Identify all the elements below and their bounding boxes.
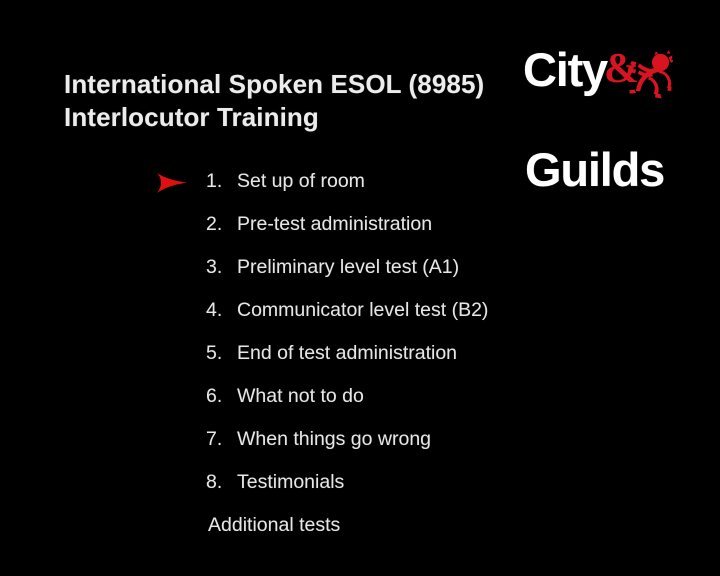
list-item: 4.Communicator level test (B2) <box>206 295 626 338</box>
list-item-label: End of test administration <box>237 338 457 368</box>
list-item-label: When things go wrong <box>237 424 431 454</box>
logo-word-city: City <box>523 46 607 93</box>
list-item-label: Communicator level test (B2) <box>237 295 488 325</box>
list-item: 2.Pre-test administration <box>206 209 626 252</box>
list-item-label: Set up of room <box>237 166 365 196</box>
list-item: 1.Set up of room <box>206 166 626 209</box>
list-item-number: 4. <box>206 295 237 325</box>
list-item: 6.What not to do <box>206 381 626 424</box>
logo-row-bottom: Guilds <box>519 96 669 148</box>
list-item: 3.Preliminary level test (A1) <box>206 252 626 295</box>
list-item-number: 7. <box>206 424 237 454</box>
list-item: 5.End of test administration <box>206 338 626 381</box>
page-title: International Spoken ESOL (8985) Interlo… <box>64 68 504 134</box>
list-item-label: Preliminary level test (A1) <box>237 252 459 282</box>
title-line-2: Interlocutor Training <box>64 101 504 134</box>
slide-canvas: International Spoken ESOL (8985) Interlo… <box>0 0 720 576</box>
logo-row-top: City & <box>519 44 669 96</box>
red-arrow-marker-icon <box>156 172 188 194</box>
list-item-number: 2. <box>206 209 237 239</box>
title-line-1: International Spoken ESOL (8985) <box>64 68 504 101</box>
list-item: Additional tests <box>206 510 626 553</box>
city-and-guilds-logo: City & <box>519 44 669 152</box>
list-item-label: Additional tests <box>208 510 340 540</box>
list-item-label: Pre-test administration <box>237 209 432 239</box>
list-item-number: 3. <box>206 252 237 282</box>
rampant-lion-icon <box>627 50 673 102</box>
agenda-list: 1.Set up of room 2.Pre-test administrati… <box>206 166 626 553</box>
list-item: 7.When things go wrong <box>206 424 626 467</box>
list-item-number: 5. <box>206 338 237 368</box>
list-item-label: Testimonials <box>237 467 344 497</box>
list-item-label: What not to do <box>237 381 364 411</box>
list-item-number: 8. <box>206 467 237 497</box>
list-item: 8.Testimonials <box>206 467 626 510</box>
list-item-number: 6. <box>206 381 237 411</box>
list-item-number: 1. <box>206 166 237 196</box>
